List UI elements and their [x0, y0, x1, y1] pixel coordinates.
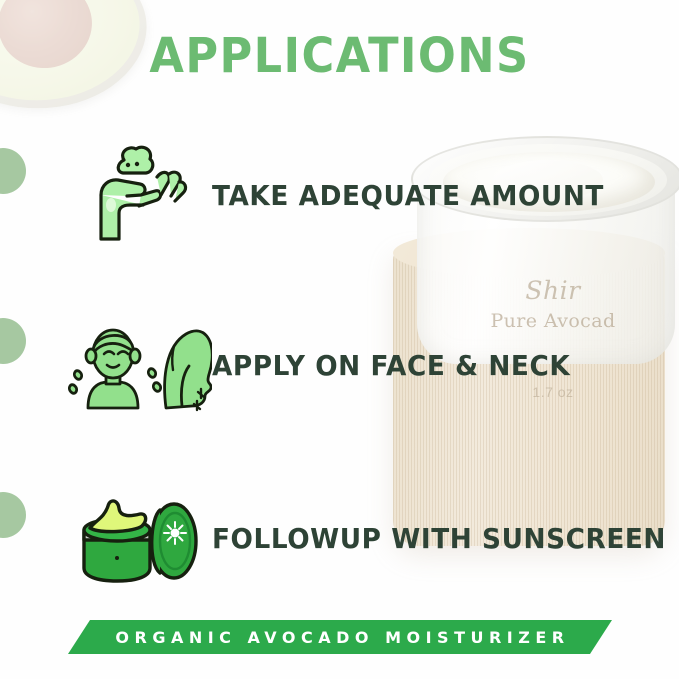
step-label-3: FOLLOWUP WITH SUNSCREEN: [212, 522, 666, 555]
hand-with-cream-dollop-icon: [62, 140, 212, 250]
face-and-neck-profile-icon: [62, 310, 212, 420]
step-row-2: APPLY ON FACE & NECK: [62, 305, 622, 425]
jar-brand-text: Shir: [453, 276, 653, 305]
step-row-3: FOLLOWUP WITH SUNSCREEN: [62, 478, 622, 598]
step-label-2: APPLY ON FACE & NECK: [212, 349, 597, 382]
decorative-circle-1: [0, 148, 26, 194]
step-row-1: TAKE ADEQUATE AMOUNT: [62, 135, 622, 255]
decorative-circle-3: [0, 492, 26, 538]
sunscreen-jar-icon: [62, 483, 212, 593]
bottom-banner: ORGANIC AVOCADO MOISTURIZER: [68, 620, 612, 654]
step-label-1: TAKE ADEQUATE AMOUNT: [212, 179, 604, 212]
page-title: APPLICATIONS: [24, 28, 655, 84]
decorative-circle-2: [0, 318, 26, 364]
banner-text: ORGANIC AVOCADO MOISTURIZER: [110, 628, 569, 647]
infographic-canvas: Shir Pure Avocad 1.7 oz APPLICATIONS: [0, 0, 679, 679]
